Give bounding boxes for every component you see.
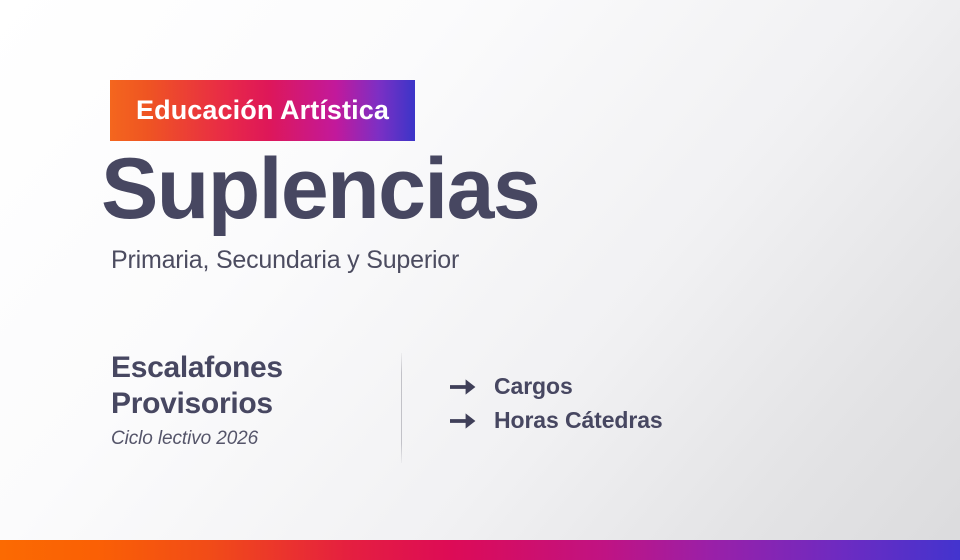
section-heading: Escalafones Provisorios xyxy=(111,353,401,419)
arrow-right-icon xyxy=(450,411,480,431)
bottom-gradient-bar xyxy=(0,540,960,560)
list-item: Cargos xyxy=(450,373,663,400)
slide-canvas: Educación Artística Suplencias Primaria,… xyxy=(0,0,960,560)
section-heading-line2: Provisorios xyxy=(111,389,401,419)
page-title: Suplencias xyxy=(101,146,539,232)
escalafones-block: Escalafones Provisorios Ciclo lectivo 20… xyxy=(111,353,401,450)
page-subtitle: Primaria, Secundaria y Superior xyxy=(111,246,459,275)
arrow-right-icon xyxy=(450,377,480,397)
items-list: Cargos Horas Cátedras xyxy=(402,353,663,434)
list-item: Horas Cátedras xyxy=(450,407,663,434)
section-heading-line1: Escalafones xyxy=(111,351,283,384)
list-item-label: Horas Cátedras xyxy=(494,407,663,434)
school-year-label: Ciclo lectivo 2026 xyxy=(111,428,401,450)
lower-section: Escalafones Provisorios Ciclo lectivo 20… xyxy=(111,353,871,463)
category-badge: Educación Artística xyxy=(110,80,415,141)
list-item-label: Cargos xyxy=(494,373,573,400)
badge-container: Educación Artística xyxy=(110,80,415,141)
